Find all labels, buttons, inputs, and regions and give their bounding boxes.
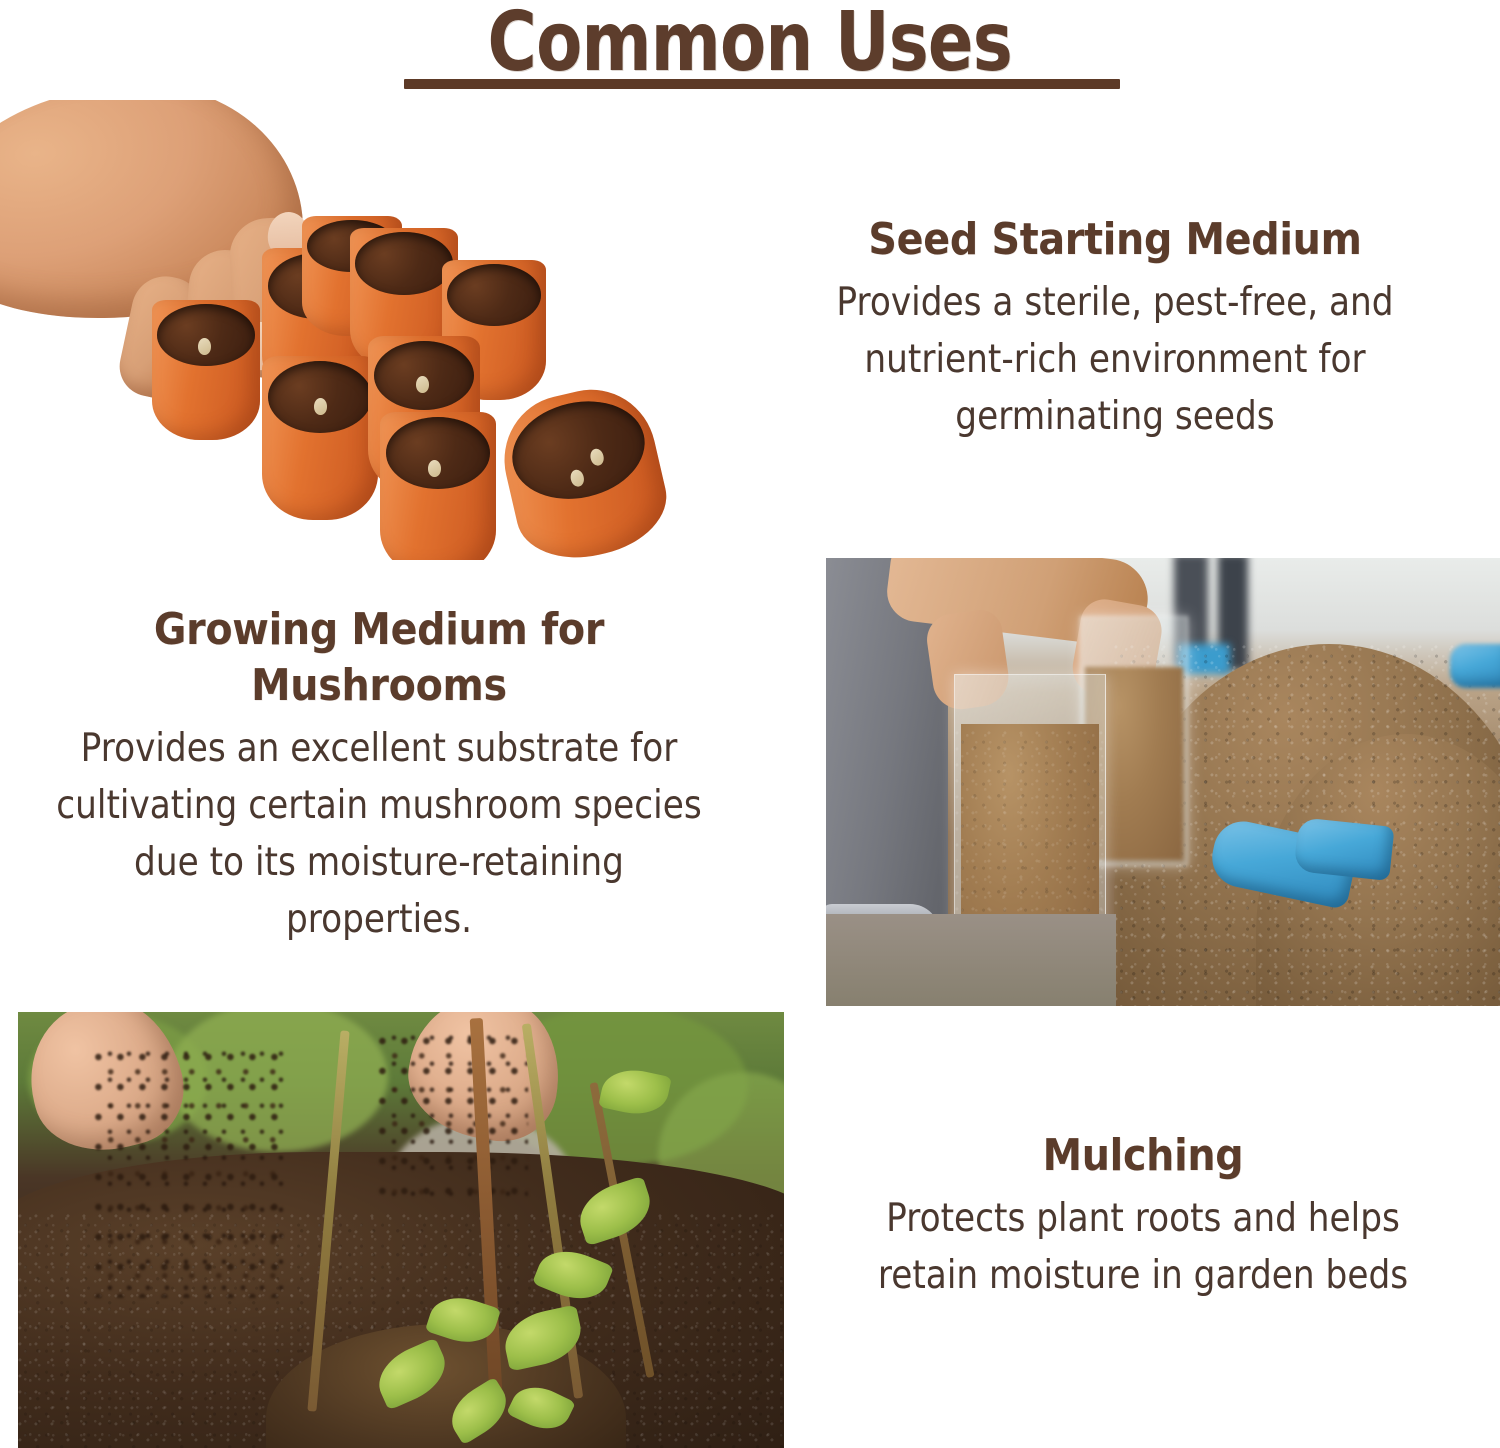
falling-soil	[94, 1048, 284, 1298]
mulching-plant-photo	[18, 1012, 784, 1448]
section-body-growing-medium-mushrooms: Provides an excellent substrate for cult…	[53, 720, 706, 948]
infographic-page: Common Uses	[0, 0, 1500, 1448]
section-heading-seed-starting: Seed Starting Medium	[797, 212, 1432, 268]
pot-soil	[157, 304, 254, 366]
seedling-pot-tilted	[492, 377, 677, 560]
seed	[198, 338, 211, 355]
coir-bagging-photo	[826, 558, 1500, 1006]
seedling-pot	[152, 300, 260, 440]
blue-scoop	[1450, 644, 1500, 688]
pot-soil	[503, 389, 655, 512]
section-body-seed-starting: Provides a sterile, pest-free, and nutri…	[804, 274, 1425, 445]
seed	[428, 460, 441, 477]
title-underline	[404, 79, 1120, 89]
pot-soil	[268, 361, 372, 433]
seed	[416, 376, 429, 393]
section-seed-starting: Seed Starting Medium Provides a sterile,…	[762, 212, 1468, 445]
seed	[314, 398, 327, 415]
page-title-wrap: Common Uses	[0, 2, 1500, 84]
pot-soil	[386, 417, 490, 489]
blue-scoop	[1293, 817, 1394, 881]
section-body-mulching: Protects plant roots and helps retain mo…	[832, 1190, 1453, 1304]
pot-soil	[447, 264, 541, 326]
page-title: Common Uses	[488, 2, 1012, 84]
section-mulching: Mulching Protects plant roots and helps …	[790, 1128, 1496, 1304]
section-heading-growing-medium-mushrooms: Growing Medium for Mushrooms	[45, 602, 713, 714]
section-growing-medium-mushrooms: Growing Medium for Mushrooms Provides an…	[8, 602, 750, 948]
seedling-pot	[380, 412, 496, 560]
floor	[826, 914, 1116, 1006]
pot-soil	[355, 232, 452, 294]
seedling-pot	[262, 356, 378, 520]
section-heading-mulching: Mulching	[825, 1128, 1460, 1184]
seedling-pots-photo	[0, 100, 690, 560]
falling-soil	[378, 1032, 528, 1212]
